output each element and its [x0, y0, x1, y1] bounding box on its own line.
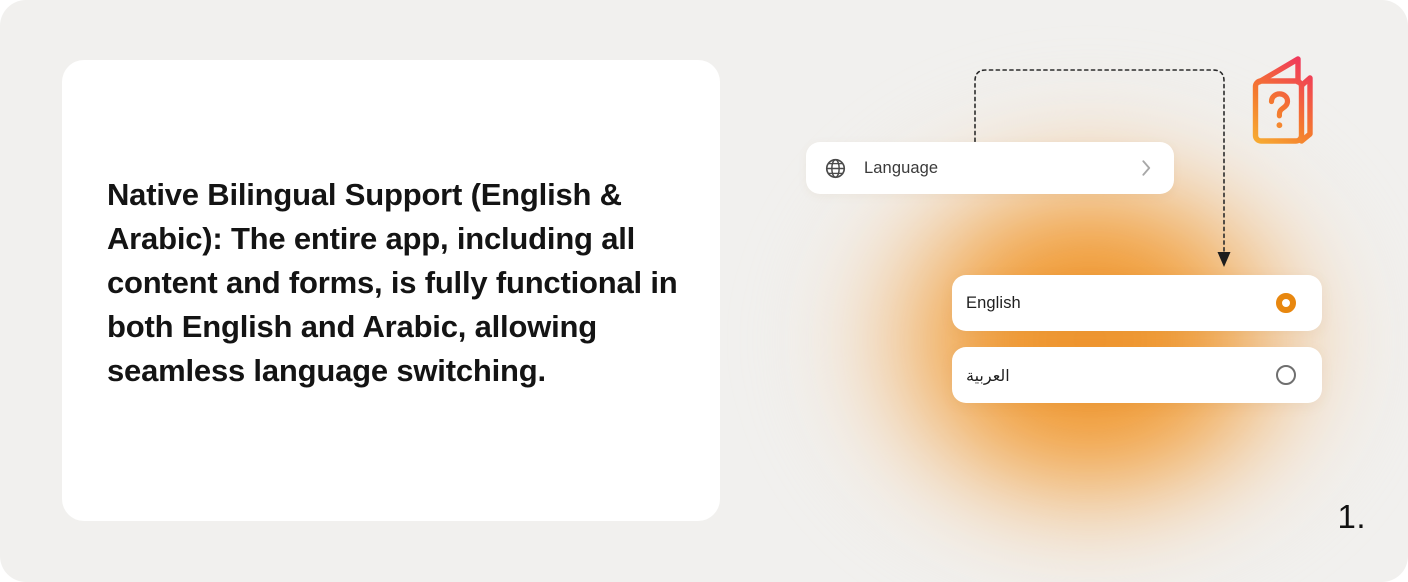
globe-icon [825, 158, 846, 179]
language-option-label: English [966, 294, 1021, 313]
language-option-label: العربية [966, 366, 1010, 385]
radio-selected-icon[interactable] [1276, 293, 1296, 313]
language-option-english[interactable]: English [952, 275, 1322, 331]
language-settings-row[interactable]: Language [806, 142, 1174, 194]
slide-canvas: Native Bilingual Support (English & Arab… [0, 0, 1408, 582]
feature-description-text: Native Bilingual Support (English & Arab… [107, 173, 682, 393]
radio-unselected-icon[interactable] [1276, 365, 1296, 385]
chevron-right-icon[interactable] [1141, 159, 1152, 177]
feature-description-card: Native Bilingual Support (English & Arab… [62, 60, 720, 521]
step-number: 1. [1337, 498, 1366, 536]
booklet-question-icon [1246, 52, 1320, 150]
language-row-label: Language [864, 159, 938, 178]
language-option-arabic[interactable]: العربية [952, 347, 1322, 403]
